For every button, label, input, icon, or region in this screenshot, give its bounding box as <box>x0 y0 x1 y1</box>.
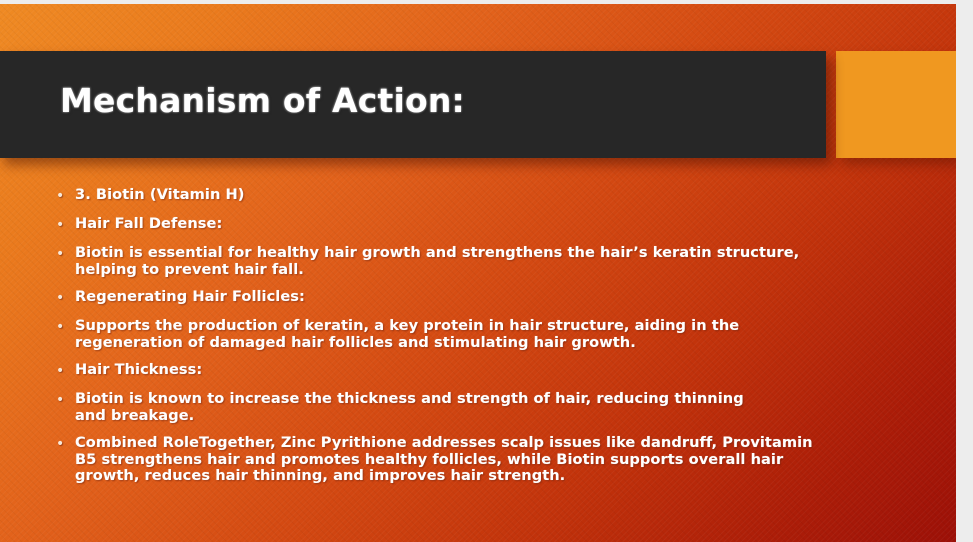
list-item: •Regenerating Hair Follicles: <box>56 289 896 307</box>
list-item: •3. Biotin (Vitamin H) <box>56 187 896 205</box>
bullet-point-icon: • <box>56 289 75 307</box>
list-item-label: Biotin is essential for healthy hair gro… <box>75 245 801 278</box>
bullet-point-icon: • <box>56 362 75 380</box>
bullet-list: •3. Biotin (Vitamin H)•Hair Fall Defense… <box>56 187 896 496</box>
list-item-label: 3. Biotin (Vitamin H) <box>75 187 801 204</box>
title-bar: Mechanism of Action: <box>0 51 826 158</box>
list-item-label: Supports the production of keratin, a ke… <box>75 318 761 351</box>
list-item: •Biotin is known to increase the thickne… <box>56 391 896 424</box>
list-item-label: Regenerating Hair Follicles: <box>75 289 801 306</box>
list-item-label: Combined RoleTogether, Zinc Pyrithione a… <box>75 435 817 485</box>
list-item: •Combined RoleTogether, Zinc Pyrithione … <box>56 435 896 485</box>
slide-canvas: Mechanism of Action: •3. Biotin (Vitamin… <box>0 4 956 542</box>
bullet-point-icon: • <box>56 391 75 409</box>
list-item: •Hair Fall Defense: <box>56 216 896 234</box>
bullet-point-icon: • <box>56 435 75 453</box>
list-item: •Biotin is essential for healthy hair gr… <box>56 245 896 278</box>
presentation-slide: Mechanism of Action: •3. Biotin (Vitamin… <box>0 0 973 542</box>
bullet-point-icon: • <box>56 245 75 263</box>
page-title: Mechanism of Action: <box>60 81 465 120</box>
title-accent-block <box>836 51 956 158</box>
list-item: •Supports the production of keratin, a k… <box>56 318 896 351</box>
bullet-point-icon: • <box>56 216 75 234</box>
list-item-label: Hair Fall Defense: <box>75 216 801 233</box>
bullet-point-icon: • <box>56 187 75 205</box>
list-item-label: Biotin is known to increase the thicknes… <box>75 391 761 424</box>
list-item-label: Hair Thickness: <box>75 362 801 379</box>
list-item: •Hair Thickness: <box>56 362 896 380</box>
bullet-point-icon: • <box>56 318 75 336</box>
